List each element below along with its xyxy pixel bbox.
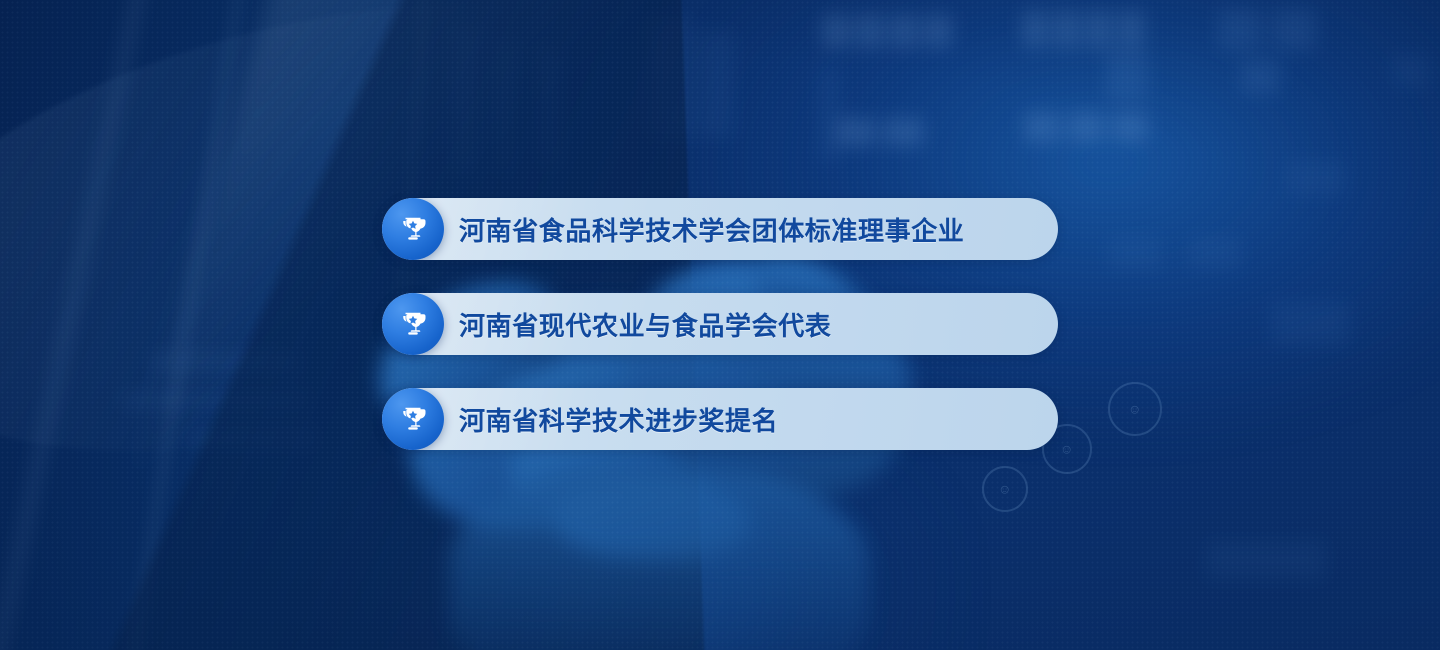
honor-label: 河南省科学技术进步奖提名	[459, 401, 778, 438]
honor-label: 河南省食品科学技术学会团体标准理事企业	[459, 211, 964, 248]
trophy-icon	[382, 293, 444, 355]
honor-item[interactable]: 河南省科学技术进步奖提名	[382, 388, 1058, 450]
trophy-icon	[382, 388, 444, 450]
honor-label: 河南省现代农业与食品学会代表	[459, 306, 831, 343]
honors-list: 河南省食品科学技术学会团体标准理事企业 河南省现代农业与食品学会代表	[382, 198, 1058, 450]
trophy-icon	[382, 198, 444, 260]
honors-banner: ☺ ☺ ☺ 河南省食品科学技术学会团体标准理事企业	[0, 0, 1440, 650]
honor-item[interactable]: 河南省食品科学技术学会团体标准理事企业	[382, 198, 1058, 260]
honor-item[interactable]: 河南省现代农业与食品学会代表	[382, 293, 1058, 355]
